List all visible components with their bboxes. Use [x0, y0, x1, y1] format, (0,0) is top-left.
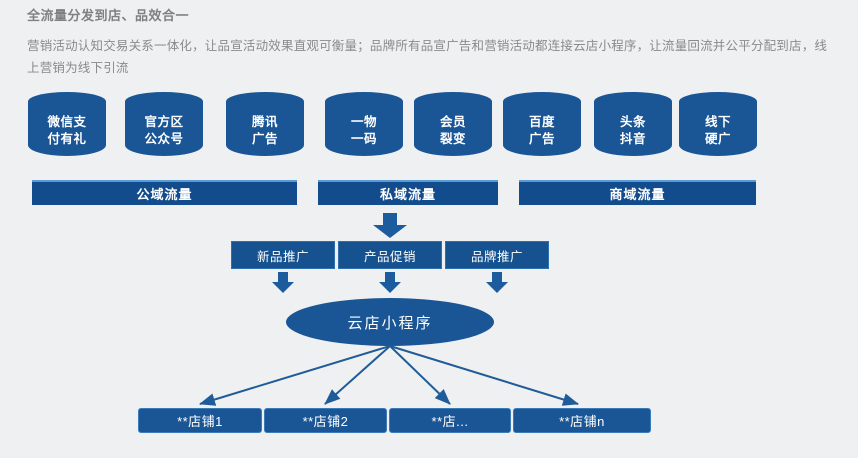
source-cylinder-wechat-pay[interactable]: 微信支 付有礼 [28, 92, 106, 164]
cylinder-label-line1: 百度 [503, 114, 581, 131]
cylinder-label: 腾讯 广告 [226, 114, 304, 148]
down-arrow-brand-promotion-to-hub [486, 272, 508, 293]
cylinder-label-line1: 一物 [325, 114, 403, 131]
source-cylinder-offline-ads[interactable]: 线下 硬广 [679, 92, 757, 164]
cylinder-label: 官方区 公众号 [125, 114, 203, 148]
cylinder-label-line1: 线下 [679, 114, 757, 131]
shop-box-2[interactable]: **店铺2 [264, 408, 387, 433]
cylinder-label-line1: 腾讯 [226, 114, 304, 131]
connector-to-shop-2 [325, 346, 390, 404]
traffic-bar-business-domain[interactable]: 商域流量 [519, 180, 756, 205]
cylinder-label: 一物 一码 [325, 114, 403, 148]
cylinder-label: 百度 广告 [503, 114, 581, 148]
arrow-head-icon [272, 282, 294, 293]
shop-box-1[interactable]: **店铺1 [138, 408, 262, 433]
promo-box-brand-promotion[interactable]: 品牌推广 [445, 241, 549, 269]
source-cylinder-official-account[interactable]: 官方区 公众号 [125, 92, 203, 164]
down-arrow-to-promotions [373, 213, 407, 238]
cylinder-label-line2: 公众号 [125, 131, 203, 148]
cylinder-label: 线下 硬广 [679, 114, 757, 148]
promo-box-new-product[interactable]: 新品推广 [231, 241, 335, 269]
hub-cloud-store-miniprogram[interactable]: 云店小程序 [286, 298, 494, 346]
cylinder-label: 头条 抖音 [594, 114, 672, 148]
cylinder-label-line1: 头条 [594, 114, 672, 131]
arrow-head-icon [486, 282, 508, 293]
cylinder-label-line2: 裂变 [414, 131, 492, 148]
source-cylinder-baidu-ads[interactable]: 百度 广告 [503, 92, 581, 164]
down-arrow-new-product-to-hub [272, 272, 294, 293]
cylinder-label: 会员 裂变 [414, 114, 492, 148]
source-cylinder-one-item-one-code[interactable]: 一物 一码 [325, 92, 403, 164]
cylinder-label-line1: 会员 [414, 114, 492, 131]
source-cylinder-toutiao-douyin[interactable]: 头条 抖音 [594, 92, 672, 164]
connector-to-shop-3 [390, 346, 450, 404]
cylinder-label-line2: 一码 [325, 131, 403, 148]
diagram-canvas: 全流量分发到店、品效合一 营销活动认知交易关系一体化，让品宣活动效果直观可衡量；… [0, 0, 858, 458]
down-arrow-product-promotion-to-hub [379, 272, 401, 293]
page-title: 全流量分发到店、品效合一 [27, 5, 189, 24]
connector-to-shop-4 [390, 346, 578, 404]
cylinder-label-line1: 官方区 [125, 114, 203, 131]
arrow-head-icon [379, 282, 401, 293]
source-cylinder-member-fission[interactable]: 会员 裂变 [414, 92, 492, 164]
source-cylinder-tencent-ads[interactable]: 腾讯 广告 [226, 92, 304, 164]
shop-box-3[interactable]: **店... [389, 408, 511, 433]
cylinder-label: 微信支 付有礼 [28, 114, 106, 148]
cylinder-label-line2: 抖音 [594, 131, 672, 148]
cylinder-label-line2: 广告 [226, 131, 304, 148]
page-description: 营销活动认知交易关系一体化，让品宣活动效果直观可衡量；品牌所有品宣广告和营销活动… [27, 35, 839, 79]
traffic-bar-private-domain[interactable]: 私域流量 [318, 180, 498, 205]
cylinder-label-line2: 硬广 [679, 131, 757, 148]
cylinder-label-line2: 广告 [503, 131, 581, 148]
promo-box-product-promotion[interactable]: 产品促销 [338, 241, 442, 269]
connector-to-shop-1 [200, 346, 390, 404]
arrow-head-icon [373, 225, 407, 238]
cylinder-label-line2: 付有礼 [28, 131, 106, 148]
traffic-bar-public-domain[interactable]: 公域流量 [32, 180, 297, 205]
shop-box-4[interactable]: **店铺n [513, 408, 651, 433]
cylinder-label-line1: 微信支 [28, 114, 106, 131]
